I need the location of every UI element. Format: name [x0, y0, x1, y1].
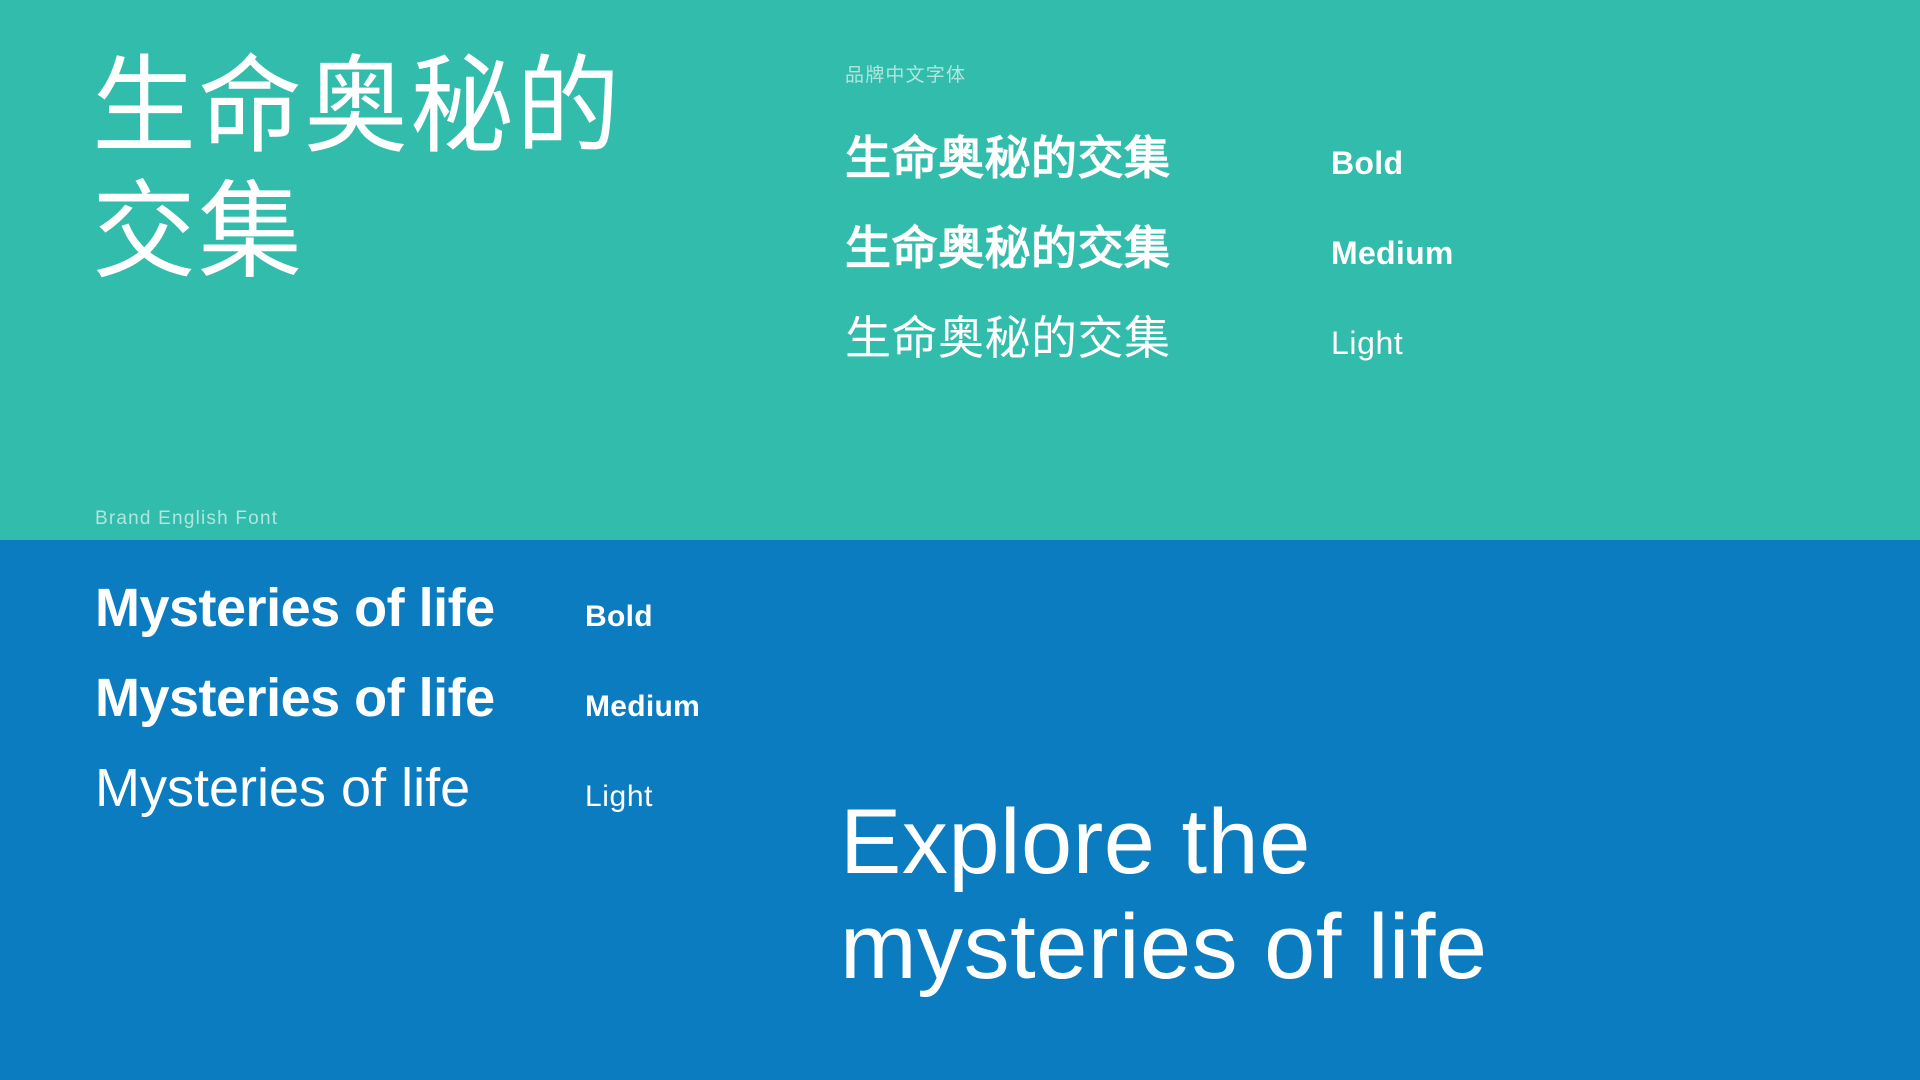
- chinese-sample-bold: 生命奥秘的交集: [845, 135, 1245, 181]
- specimen-row: 生命奥秘的交集 Bold: [845, 135, 1865, 225]
- chinese-sample-light: 生命奥秘的交集: [845, 315, 1245, 361]
- specimen-row: Mysteries of life Bold: [95, 581, 955, 671]
- chinese-specimen-list: 生命奥秘的交集 Bold 生命奥秘的交集 Medium 生命奥秘的交集 Ligh…: [845, 135, 1865, 405]
- chinese-font-panel: 生命奥秘的 交集 品牌中文字体 生命奥秘的交集 Bold 生命奥秘的交集 Med…: [0, 0, 1920, 540]
- chinese-weight-label-medium: Medium: [1331, 237, 1454, 269]
- english-specimen-list: Mysteries of life Bold Mysteries of life…: [95, 581, 955, 851]
- specimen-row: 生命奥秘的交集 Light: [845, 315, 1865, 405]
- english-sample-medium: Mysteries of life: [95, 671, 565, 725]
- english-weight-label-medium: Medium: [585, 692, 700, 722]
- chinese-weight-label-light: Light: [1331, 327, 1403, 359]
- english-sample-bold: Mysteries of life: [95, 581, 565, 635]
- specimen-row: Mysteries of life Light: [95, 761, 955, 851]
- specimen-row: Mysteries of life Medium: [95, 671, 955, 761]
- english-sample-light: Mysteries of life: [95, 761, 565, 815]
- english-section-label: Brand English Font: [95, 508, 955, 531]
- chinese-section-label: 品牌中文字体: [845, 64, 1865, 87]
- english-specimen-column: Brand English Font Mysteries of life Bol…: [95, 508, 955, 851]
- chinese-sample-medium: 生命奥秘的交集: [845, 225, 1245, 271]
- chinese-display-headline: 生命奥秘的 交集: [92, 44, 792, 294]
- chinese-weight-label-bold: Bold: [1331, 147, 1403, 179]
- english-weight-label-bold: Bold: [585, 602, 653, 632]
- english-display-headline: Explore the mysteries of life: [840, 790, 1900, 1000]
- chinese-specimen-column: 品牌中文字体 生命奥秘的交集 Bold 生命奥秘的交集 Medium 生命奥秘的…: [845, 64, 1865, 405]
- english-weight-label-light: Light: [585, 782, 653, 812]
- brand-typography-specimen-page: 生命奥秘的 交集 品牌中文字体 生命奥秘的交集 Bold 生命奥秘的交集 Med…: [0, 0, 1920, 1080]
- specimen-row: 生命奥秘的交集 Medium: [845, 225, 1865, 315]
